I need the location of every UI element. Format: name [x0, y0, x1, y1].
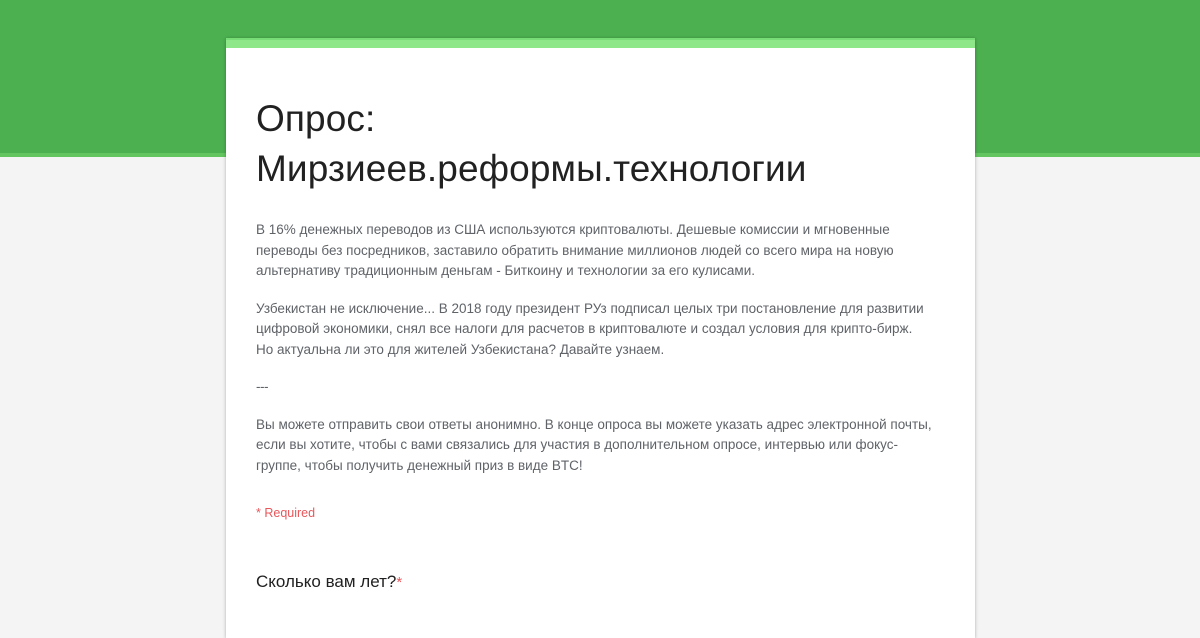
- question-block-age: Сколько вам лет?*: [256, 564, 945, 595]
- question-label: Сколько вам лет?: [256, 572, 396, 591]
- form-description-paragraph-1: В 16% денежных переводов из США использу…: [256, 220, 938, 282]
- form-description-separator: ---: [256, 377, 945, 398]
- form-description-paragraph-4: Вы можете отправить свои ответы анонимно…: [256, 415, 938, 477]
- required-asterisk: *: [396, 574, 402, 591]
- form-accent-bar: [226, 38, 975, 48]
- page-title: Опрос: Мирзиеев.реформы.технологии: [256, 94, 916, 194]
- form-card-body: Опрос: Мирзиеев.реформы.технологии В 16%…: [226, 48, 975, 595]
- page-root: Опрос: Мирзиеев.реформы.технологии В 16%…: [0, 0, 1200, 630]
- question-title: Сколько вам лет?*: [256, 570, 945, 595]
- form-header: Опрос: Мирзиеев.реформы.технологии В 16%…: [256, 48, 945, 522]
- form-card: Опрос: Мирзиеев.реформы.технологии В 16%…: [226, 38, 975, 638]
- form-description-paragraph-2: Узбекистан не исключение... В 2018 году …: [256, 299, 938, 340]
- required-note: * Required: [256, 504, 945, 522]
- form-description-paragraph-3: Но актуальна ли это для жителей Узбекист…: [256, 340, 938, 361]
